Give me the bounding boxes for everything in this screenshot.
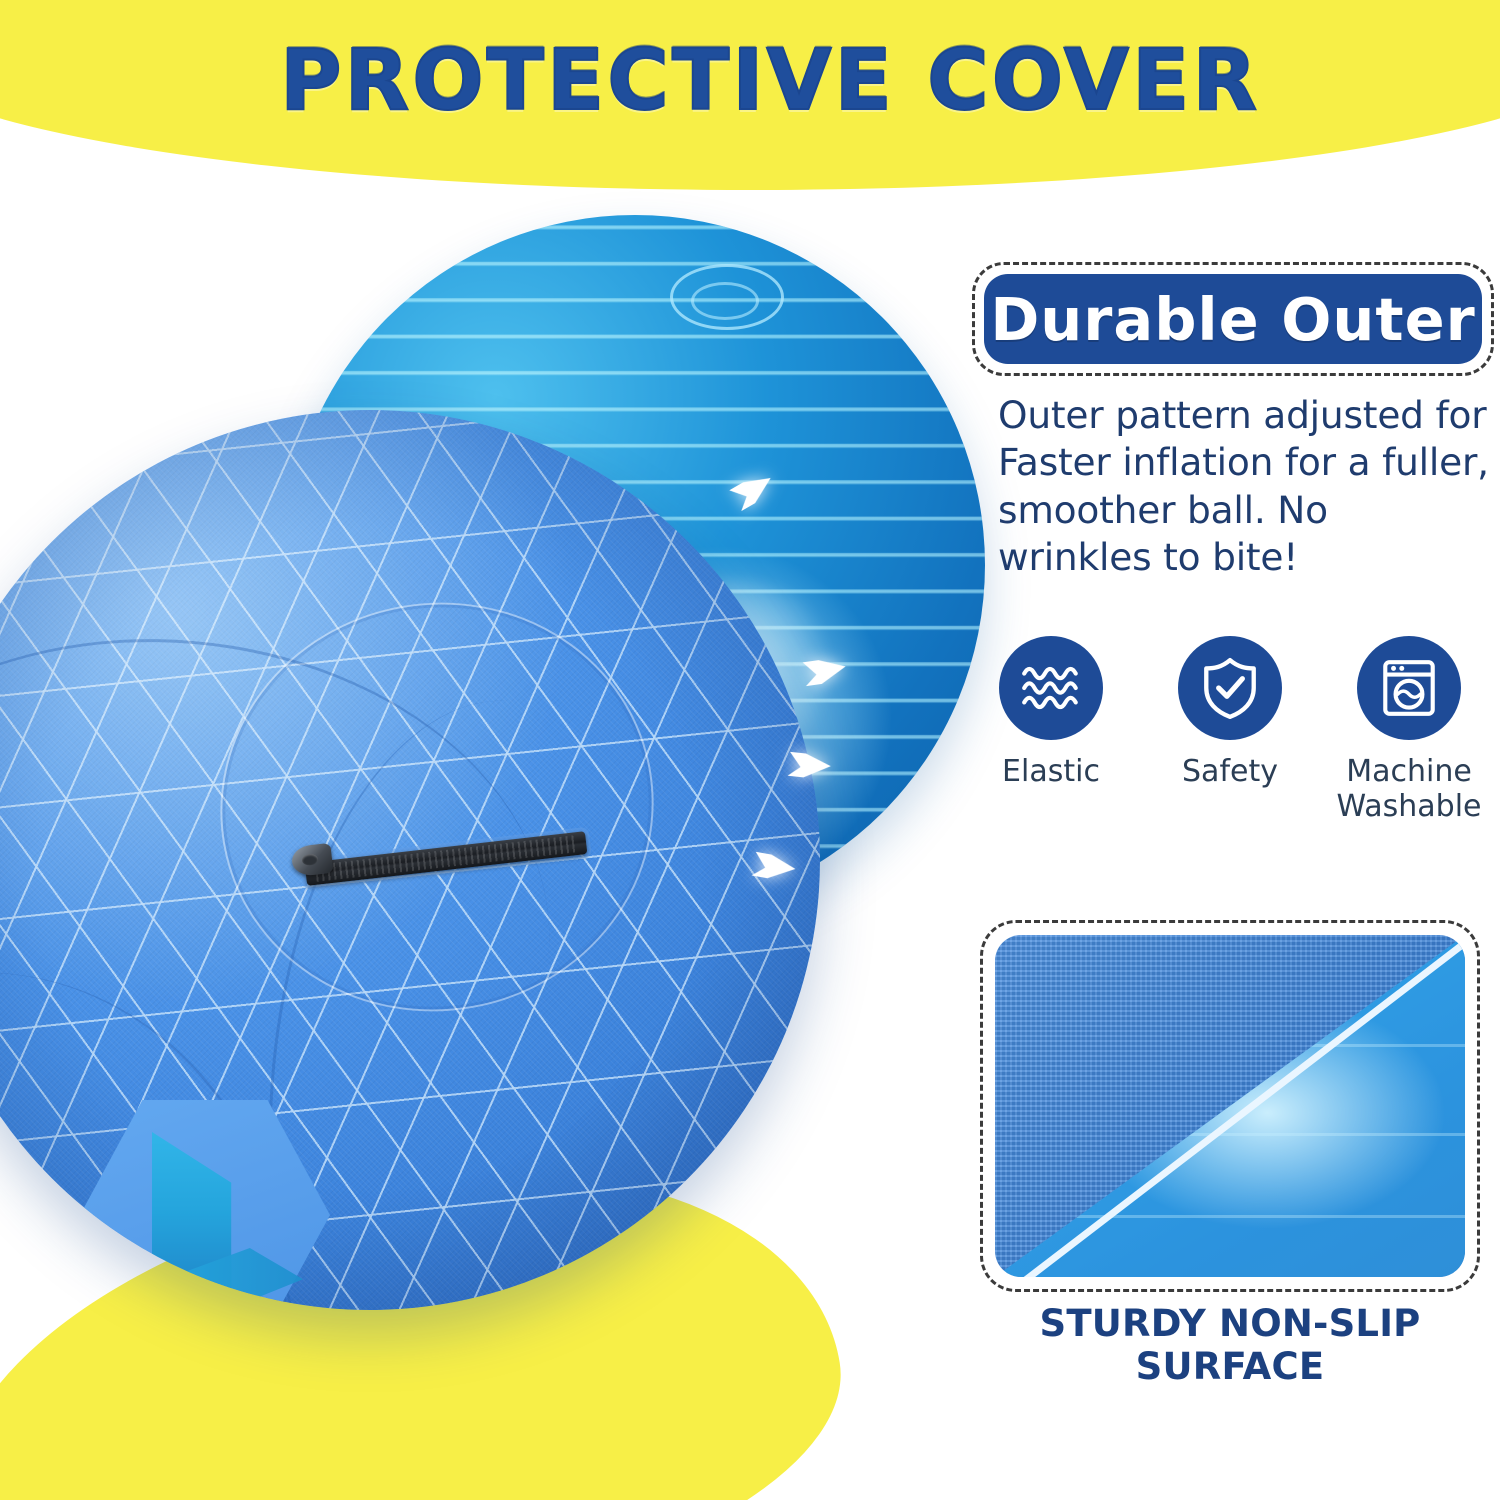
non-slip-caption: STURDY NON-SLIP SURFACE bbox=[960, 1302, 1500, 1388]
feature-label: Machine Washable bbox=[1328, 754, 1490, 825]
feature-icon-circle bbox=[1178, 636, 1282, 740]
non-slip-surface-panel bbox=[980, 920, 1480, 1292]
flow-arrow-icon bbox=[743, 735, 839, 788]
shield-check-icon bbox=[1197, 655, 1263, 721]
feature-label: Safety bbox=[1182, 754, 1278, 789]
durable-outer-badge: Durable Outer bbox=[972, 262, 1494, 376]
info-column: Durable Outer Outer pattern adjusted for… bbox=[960, 0, 1500, 1500]
exercise-ball-with-cover bbox=[0, 410, 820, 1310]
surface-comparison-image bbox=[995, 935, 1465, 1277]
badge-label: Durable Outer bbox=[990, 285, 1475, 354]
washing-machine-icon bbox=[1376, 655, 1442, 721]
feature-icon-circle bbox=[1357, 636, 1461, 740]
product-illustration bbox=[0, 150, 960, 1500]
diagonal-divider bbox=[995, 935, 1465, 1277]
wavy-lines-icon bbox=[1018, 655, 1084, 721]
feature-elastic: Elastic bbox=[970, 636, 1132, 825]
feature-machine-washable: Machine Washable bbox=[1328, 636, 1490, 825]
feature-label: Elastic bbox=[1002, 754, 1100, 789]
description-text: Outer pattern adjusted for Faster inflat… bbox=[998, 392, 1492, 581]
feature-list: Elastic Safety bbox=[970, 636, 1490, 825]
ball-valve-inner-ring bbox=[691, 282, 759, 320]
infographic-canvas: PROTECTIVE COVER bbox=[0, 0, 1500, 1500]
badge-fill: Durable Outer bbox=[984, 274, 1482, 364]
feature-safety: Safety bbox=[1149, 636, 1311, 825]
feature-icon-circle bbox=[999, 636, 1103, 740]
